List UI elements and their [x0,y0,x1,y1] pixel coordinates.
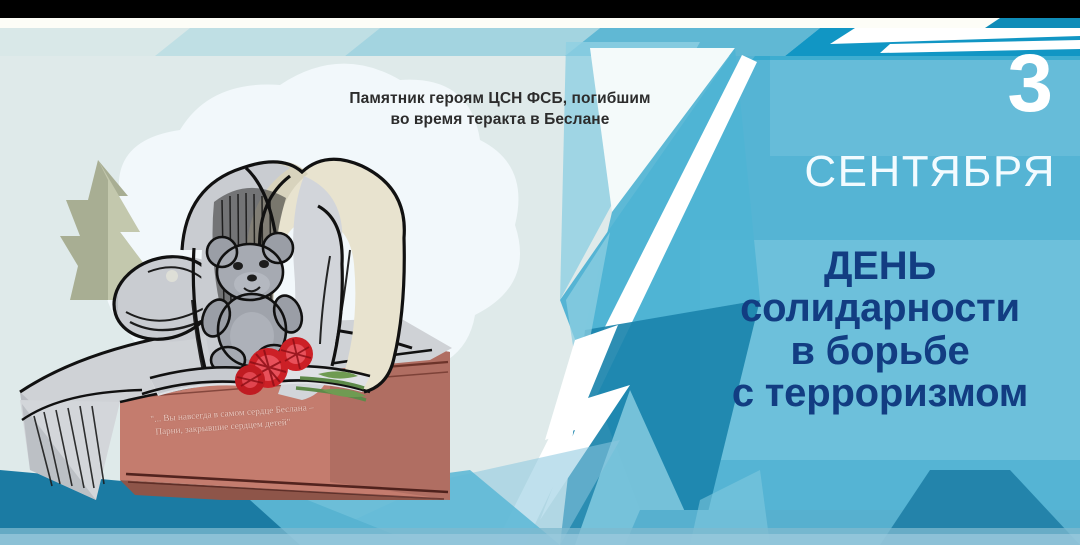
top-black-bar [0,0,1080,18]
top-stripe-band [0,18,1080,56]
headline-line-4: с терроризмом [690,372,1070,414]
caption-line-1: Памятник героям ЦСН ФСБ, погибшим [330,88,670,109]
date-day-number: 3 [1007,46,1052,121]
headline-block: ДЕНЬ солидарности в борьбе с терроризмом [690,245,1070,415]
poster-canvas: Памятник героям ЦСН ФСБ, погибшим во вре… [0,0,1080,545]
headline-line-2: солидарности [690,287,1070,329]
caption-line-2: во время теракта в Беслане [330,109,670,130]
monument-caption: Памятник героям ЦСН ФСБ, погибшим во вре… [330,88,670,131]
date-month-name: СЕНТЯБРЯ [804,150,1056,194]
headline-line-1: ДЕНЬ [690,245,1070,287]
headline-line-3: в борьбе [690,330,1070,372]
